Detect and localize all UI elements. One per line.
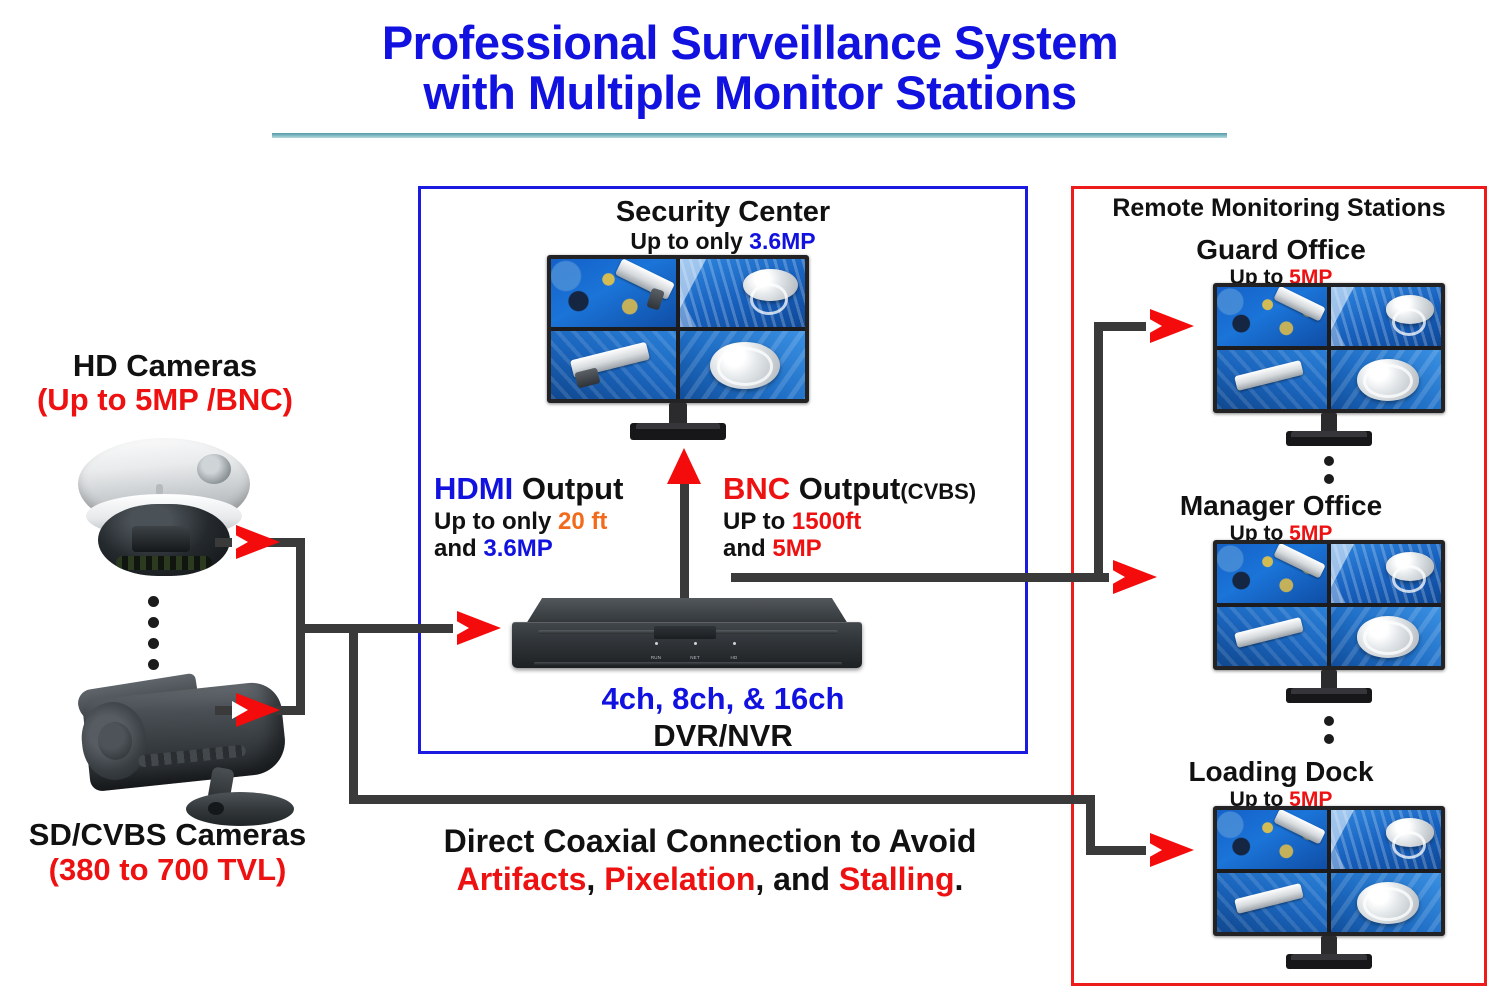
security-center-monitor-wall [547, 255, 809, 445]
footer-artifacts: Artifacts [457, 861, 587, 897]
ellipsis-dot [148, 638, 159, 649]
monitor-feed-1 [1217, 810, 1327, 869]
monitor-feed-1 [1217, 287, 1327, 346]
bnc-note: (CVBS) [900, 479, 976, 504]
monitor-stand-neck [1321, 936, 1337, 956]
bnc-line-3: and 5MP [723, 535, 822, 563]
feed-lens-icon [1395, 568, 1424, 590]
bnc-line2-value: 1500ft [792, 508, 861, 535]
monitor-feed-1 [551, 259, 676, 327]
monitor-stand-base [630, 423, 726, 440]
arrow-hdmi-up [667, 448, 701, 484]
hdmi-line3-value: 3.6MP [483, 535, 552, 562]
monitor-feed-2 [1331, 544, 1441, 603]
security-center-spec-value: 3.6MP [749, 228, 815, 254]
guard-office-monitor-wall [1213, 283, 1445, 451]
hd-cameras-label: HD Cameras [0, 348, 330, 384]
footer-pixelation: Pixelation [604, 861, 755, 897]
monitor-stand-base [1286, 954, 1372, 969]
arrow-bullet-camera [236, 693, 280, 727]
hdmi-line-3: and 3.6MP [434, 535, 553, 563]
monitor-screen [547, 255, 809, 403]
dvr-led-group: RUN NET HD [640, 642, 750, 664]
ellipsis-dot [1324, 456, 1334, 466]
ellipsis-dot [148, 617, 159, 628]
ellipsis-dot [148, 659, 159, 670]
monitor-screen [1213, 540, 1445, 670]
led-indicator [733, 642, 736, 645]
feed-lens-icon [1366, 890, 1410, 918]
dvr-led-net: NET [679, 642, 711, 664]
title-line-2: with Multiple Monitor Stations [0, 68, 1500, 118]
dvr-display-window [654, 626, 716, 639]
dvr-bottom-lip [534, 662, 842, 665]
monitor-screen [1213, 806, 1445, 936]
wire-coax-bottom-run [349, 795, 1094, 804]
monitor-feed-4 [1331, 607, 1441, 666]
monitor-stand-neck [669, 403, 687, 425]
footer-sep-1: , [586, 861, 604, 897]
dvr-led-run: RUN [640, 642, 672, 664]
page-title: Professional Surveillance System with Mu… [0, 18, 1500, 118]
monitor-feed-3 [1217, 350, 1327, 409]
feed-lens-icon [1366, 624, 1410, 652]
ellipsis-dot [148, 596, 159, 607]
monitor-feed-2 [680, 259, 805, 327]
arrow-dvr-input [457, 611, 501, 645]
arrow-manager-office [1113, 560, 1157, 594]
monitor-feed-3 [1217, 873, 1327, 932]
footer-sep-2: , and [755, 861, 839, 897]
ellipsis-dot [1324, 734, 1334, 744]
security-center-heading: Security Center [418, 196, 1028, 229]
led-indicator [655, 642, 658, 645]
wire-coax-drop [349, 628, 358, 803]
feed-lens-icon [1395, 311, 1424, 333]
remote-panel-heading: Remote Monitoring Stations [1071, 194, 1487, 223]
dvr-led-run-label: RUN [651, 655, 661, 660]
monitor-feed-4 [680, 331, 805, 399]
ellipsis-dot [1324, 716, 1334, 726]
monitor-stand-base [1286, 431, 1372, 446]
ellipsis-dot [1324, 474, 1334, 484]
hdmi-output-label: HDMI Output [434, 471, 623, 507]
security-center-spec: Up to only 3.6MP [418, 228, 1028, 255]
arrow-guard-office [1150, 309, 1194, 343]
dome-camera [72, 432, 257, 592]
feed-lens-icon [753, 286, 786, 312]
dvr-nvr-device: RUN NET HD [512, 598, 862, 670]
bnc-line3-prefix: and [723, 535, 772, 562]
monitor-feed-4 [1331, 873, 1441, 932]
bnc-output-label: BNC Output(CVBS) [723, 471, 976, 507]
station-loading-dock-label: Loading Dock [1086, 756, 1476, 788]
bnc-line3-value: 5MP [772, 535, 821, 562]
dvr-led-hd: HD [718, 642, 750, 664]
hdmi-rest: Output [513, 471, 623, 506]
monitor-feed-2 [1331, 810, 1441, 869]
dvr-led-hd-label: HD [731, 655, 738, 660]
hdmi-line2-prefix: Up to only [434, 508, 558, 535]
dvr-led-net-label: NET [690, 655, 700, 660]
arrow-dome-camera [236, 525, 280, 559]
bnc-line2-prefix: UP to [723, 508, 792, 535]
led-indicator [694, 642, 697, 645]
feed-lens-icon [720, 350, 770, 383]
dvr-front-panel: RUN NET HD [512, 622, 862, 668]
monitor-screen [1213, 283, 1445, 413]
dvr-device-label: DVR/NVR [418, 718, 1028, 754]
monitor-feed-3 [551, 331, 676, 399]
bnc-rest: Output [790, 471, 900, 506]
arrow-loading-dock [1150, 833, 1194, 867]
manager-office-monitor-wall [1213, 540, 1445, 708]
sd-cameras-spec: (380 to 700 TVL) [0, 852, 335, 888]
feed-lens-icon [1366, 367, 1410, 395]
loading-dock-monitor-wall [1213, 806, 1445, 974]
monitor-stand-base [1286, 688, 1372, 703]
bnc-line-2: UP to 1500ft [723, 508, 861, 536]
sd-cameras-label: SD/CVBS Cameras [0, 817, 335, 853]
footer-stalling: Stalling [839, 861, 955, 897]
footer-line-2: Artifacts, Pixelation, and Stalling. [360, 861, 1060, 898]
dvr-top-panel [526, 598, 848, 624]
footer-period: . [954, 861, 963, 897]
dome-camera-sensor-icon [197, 454, 231, 484]
hd-cameras-spec: (Up to 5MP /BNC) [0, 382, 330, 418]
monitor-feed-3 [1217, 607, 1327, 666]
wire-bnc-to-manager [731, 573, 1121, 582]
feed-lens-icon [1395, 834, 1424, 856]
hdmi-line-2: Up to only 20 ft [434, 508, 607, 536]
monitor-feed-4 [1331, 350, 1441, 409]
monitor-stand-neck [1321, 670, 1337, 690]
security-center-spec-prefix: Up to only [630, 228, 749, 254]
title-underline-rule [272, 133, 1227, 138]
title-line-1: Professional Surveillance System [0, 18, 1500, 68]
station-manager-office-label: Manager Office [1086, 490, 1476, 522]
station-guard-office-label: Guard Office [1086, 234, 1476, 266]
dome-camera-bubble [98, 504, 230, 576]
monitor-stand-neck [1321, 413, 1337, 433]
monitor-feed-2 [1331, 287, 1441, 346]
hdmi-line2-value: 20 ft [558, 508, 607, 535]
footer-line-1: Direct Coaxial Connection to Avoid [360, 823, 1060, 860]
hdmi-accent: HDMI [434, 471, 513, 506]
dvr-channels-label: 4ch, 8ch, & 16ch [418, 681, 1028, 717]
bnc-accent: BNC [723, 471, 790, 506]
hdmi-line3-prefix: and [434, 535, 483, 562]
monitor-feed-1 [1217, 544, 1327, 603]
wire-hdmi-to-monitor [680, 470, 689, 600]
